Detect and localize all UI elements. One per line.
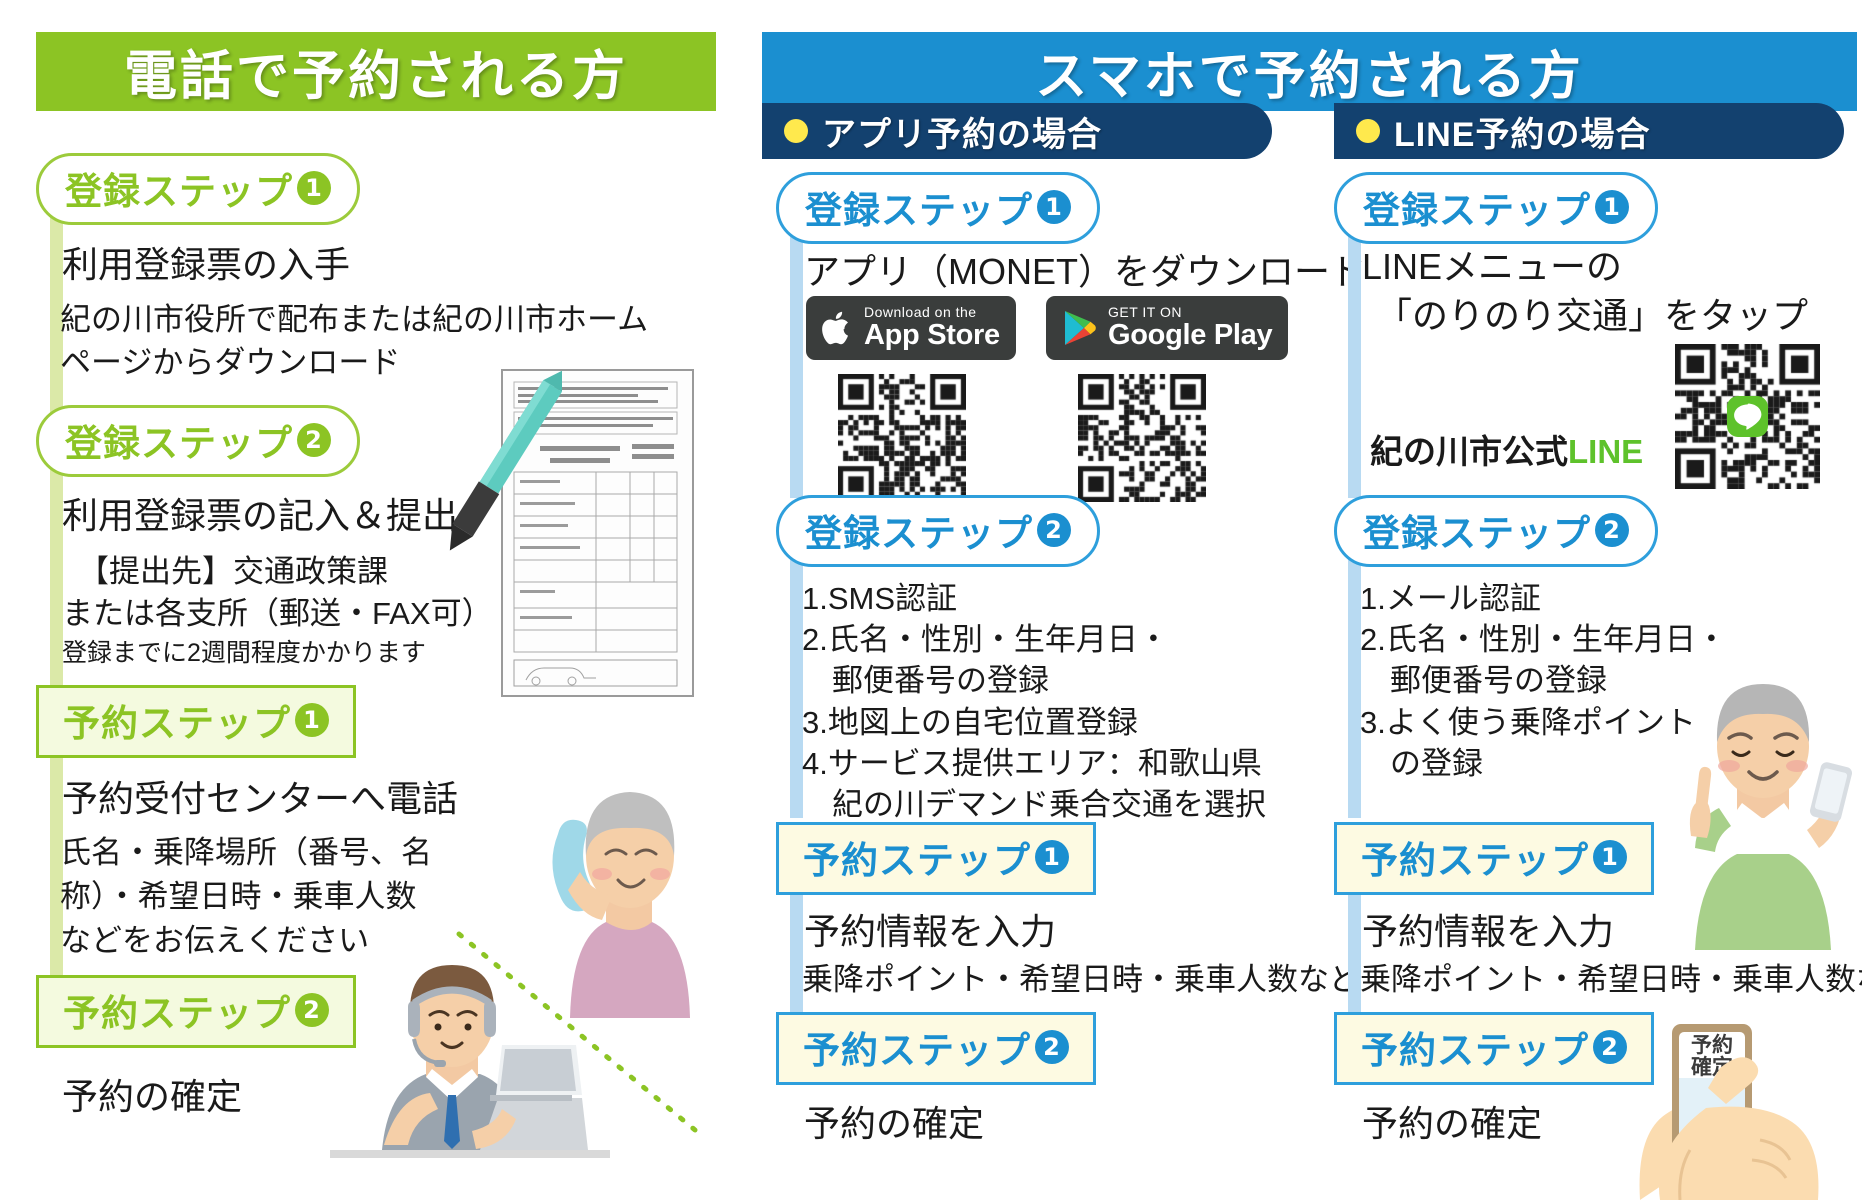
phone-reserve-step-1-line-2: 称）・希望日時・乗車人数: [60, 877, 417, 917]
app-step-2-badge: 登録ステップ 2: [776, 495, 1100, 567]
phone-step-2-line-2: または各支所（郵送・FAX可）: [62, 594, 493, 634]
app-column-subheader: アプリ予約の場合: [762, 103, 1272, 159]
phone-step-1-badge-number: 1: [297, 171, 331, 205]
app-rail-1: [790, 218, 803, 498]
line-logo-icon: [1727, 396, 1768, 437]
smartphone-column-banner-text: スマホで予約される方: [1035, 34, 1583, 109]
app-reserve-step-2-badge-number: 2: [1035, 1030, 1069, 1064]
app-reserve-step-2-badge: 予約ステップ 2: [776, 1012, 1096, 1085]
app-step-1-heading: アプリ（MONET）をダウンロード: [804, 248, 1366, 296]
line-step-2-badge-number: 2: [1595, 513, 1629, 547]
app-store-badge[interactable]: Download on the App Store: [806, 296, 1016, 360]
app-step-2-list-item: 4.サービス提供エリア：和歌山県: [802, 743, 1266, 784]
app-reserve-step-1-badge-number: 1: [1035, 840, 1069, 874]
google-play-icon: [1062, 309, 1096, 347]
app-step-1-badge: 登録ステップ 1: [776, 172, 1100, 244]
app-step-2-list-item: 1.SMS認証: [802, 578, 1266, 619]
app-step-2-badge-label: 登録ステップ: [805, 503, 1033, 557]
app-reserve-step-1-badge: 予約ステップ 1: [776, 822, 1096, 895]
phone-step-1-line-1: 紀の川市役所で配布または紀の川市ホーム: [60, 300, 648, 340]
google-play-badge[interactable]: GET IT ON Google Play: [1046, 296, 1288, 360]
phone-step-2-note: 登録までに2週間程度かかります: [62, 637, 426, 670]
phone-reserve-step-2-badge-label: 予約ステップ: [63, 983, 291, 1037]
app-step-2-list-item: 2.氏名・性別・生年月日・: [802, 619, 1266, 660]
line-reserve-step-1-badge-label: 予約ステップ: [1361, 830, 1589, 884]
man-with-smartphone-illustration: [1665, 660, 1862, 950]
connector-rail-green-2: [50, 448, 63, 710]
pen-illustration: [432, 360, 562, 590]
line-step-1-line-2: 「のりのり交通」をタップ: [1376, 292, 1808, 340]
app-reserve-step-1-line-1: 乗降ポイント・希望日時・乗車人数など: [802, 960, 1360, 1000]
phone-reserve-step-1-line-3: などをお伝えください: [60, 921, 369, 961]
phone-column-banner-text: 電話で予約される方: [124, 34, 628, 110]
line-qr-caption: 紀の川市公式LINE: [1370, 425, 1643, 473]
phone-reserve-step-1-badge: 予約ステップ 1: [36, 685, 356, 758]
phone-reserve-step-1-badge-number: 1: [295, 703, 329, 737]
app-reserve-step-1-heading: 予約情報を入力: [804, 908, 1056, 956]
phone-step-1-badge: 登録ステップ 1: [36, 153, 360, 225]
line-step-1-badge-number: 1: [1595, 190, 1629, 224]
app-step-1-badge-number: 1: [1037, 190, 1071, 224]
line-step-2-badge-label: 登録ステップ: [1363, 503, 1591, 557]
phone-column-banner: 電話で予約される方: [36, 32, 716, 111]
phone-step-1-badge-label: 登録ステップ: [65, 161, 293, 215]
app-step-2-badge-number: 2: [1037, 513, 1071, 547]
app-step-2-list-item: 3.地図上の自宅位置登録: [802, 702, 1266, 743]
google-play-qr-code: [1078, 374, 1206, 502]
phone-step-2-badge-number: 2: [297, 423, 331, 457]
app-column-subheader-text: アプリ予約の場合: [822, 107, 1102, 156]
bullet-dot-icon: [1356, 119, 1380, 143]
line-reserve-step-2-badge: 予約ステップ 2: [1334, 1012, 1654, 1085]
app-reserve-step-2-heading: 予約の確定: [804, 1100, 984, 1148]
phone-step-1-heading: 利用登録票の入手: [62, 241, 350, 289]
google-play-badge-small: GET IT ON: [1108, 305, 1272, 320]
bullet-dot-icon: [784, 119, 808, 143]
line-reserve-step-2-heading: 予約の確定: [1362, 1100, 1542, 1148]
smartphone-column-banner: スマホで予約される方: [762, 32, 1857, 111]
line-step-2-list-item: 2.氏名・性別・生年月日・: [1360, 619, 1727, 660]
phone-reserve-step-1-badge-label: 予約ステップ: [63, 693, 291, 747]
line-qr-caption-brand: LINE: [1568, 433, 1643, 470]
app-step-1-badge-label: 登録ステップ: [805, 180, 1033, 234]
line-rail-1: [1348, 218, 1361, 498]
call-center-operator-illustration: [330, 945, 610, 1180]
apple-icon: [822, 310, 852, 346]
phone-reserve-step-1-heading: 予約受付センターへ電話: [62, 775, 458, 823]
line-qr-code: [1675, 344, 1820, 489]
line-reserve-step-1-badge: 予約ステップ 1: [1334, 822, 1654, 895]
line-qr-caption-prefix: 紀の川市公式: [1370, 433, 1568, 470]
app-store-badge-big: App Store: [864, 320, 1000, 350]
phone-step-1-line-2: ページからダウンロード: [60, 343, 400, 383]
google-play-badge-big: Google Play: [1108, 320, 1272, 350]
phone-step-2-line-1: 【提出先】交通政策課: [78, 552, 388, 592]
phone-reserve-step-2-badge-number: 2: [295, 993, 329, 1027]
app-reserve-step-1-badge-label: 予約ステップ: [803, 830, 1031, 884]
line-reserve-step-2-badge-number: 2: [1593, 1030, 1627, 1064]
line-column-subheader: LINE予約の場合: [1334, 103, 1844, 159]
phone-step-2-badge-label: 登録ステップ: [65, 413, 293, 467]
app-step-2-list-item: 郵便番号の登録: [802, 660, 1266, 701]
line-step-2-list-item: 1.メール認証: [1360, 578, 1727, 619]
phone-reserve-step-1-line-1: 氏名・乗降場所（番号、名: [60, 833, 432, 873]
line-column-subheader-text: LINE予約の場合: [1394, 107, 1650, 156]
line-reserve-step-2-badge-label: 予約ステップ: [1361, 1020, 1589, 1074]
line-step-1-line-1: LINEメニューの: [1362, 243, 1622, 291]
phone-reserve-step-2-heading: 予約の確定: [62, 1073, 242, 1121]
app-store-badge-small: Download on the: [864, 305, 1000, 320]
app-step-2-list: 1.SMS認証 2.氏名・性別・生年月日・ 郵便番号の登録 3.地図上の自宅位置…: [802, 578, 1266, 825]
phone-screen-text-1: 予約: [1691, 1033, 1733, 1057]
app-store-qr-code: [838, 374, 966, 502]
line-step-1-badge-label: 登録ステップ: [1363, 180, 1591, 234]
app-reserve-step-2-badge-label: 予約ステップ: [803, 1020, 1031, 1074]
line-reserve-step-1-badge-number: 1: [1593, 840, 1627, 874]
phone-step-2-badge: 登録ステップ 2: [36, 405, 360, 477]
phone-reserve-step-2-badge: 予約ステップ 2: [36, 975, 356, 1048]
line-step-1-badge: 登録ステップ 1: [1334, 172, 1658, 244]
line-step-2-badge: 登録ステップ 2: [1334, 495, 1658, 567]
line-reserve-step-1-heading: 予約情報を入力: [1362, 908, 1614, 956]
phone-step-2-heading: 利用登録票の記入＆提出: [62, 492, 458, 540]
app-step-2-list-item: 紀の川デマンド乗合交通を選択: [802, 784, 1266, 825]
